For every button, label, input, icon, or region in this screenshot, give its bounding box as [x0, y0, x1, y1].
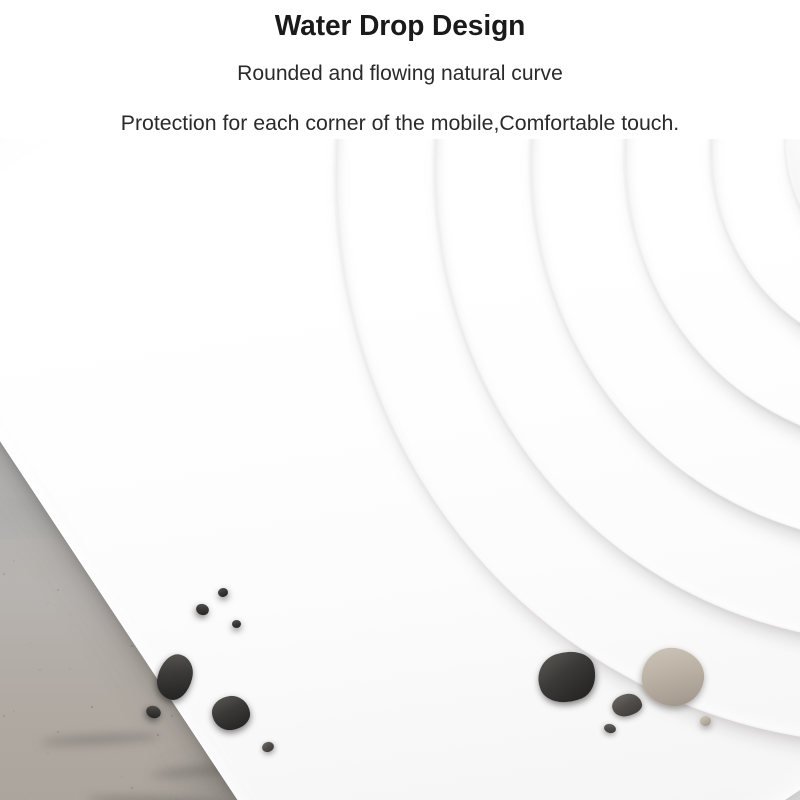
rock-chip-c [232, 620, 241, 628]
text-banner: Water Drop Design Rounded and flowing na… [0, 0, 800, 139]
subtitle-line-1: Rounded and flowing natural curve [8, 60, 792, 87]
water-ripple-pattern [246, 139, 800, 800]
ripple-ring-6-crease [260, 139, 800, 800]
page-title: Water Drop Design [12, 9, 788, 43]
subtitle-line-2: Protection for each corner of the mobile… [4, 110, 796, 137]
product-marketing-image: Water Drop Design Rounded and flowing na… [0, 0, 800, 800]
product-photo [0, 139, 800, 800]
